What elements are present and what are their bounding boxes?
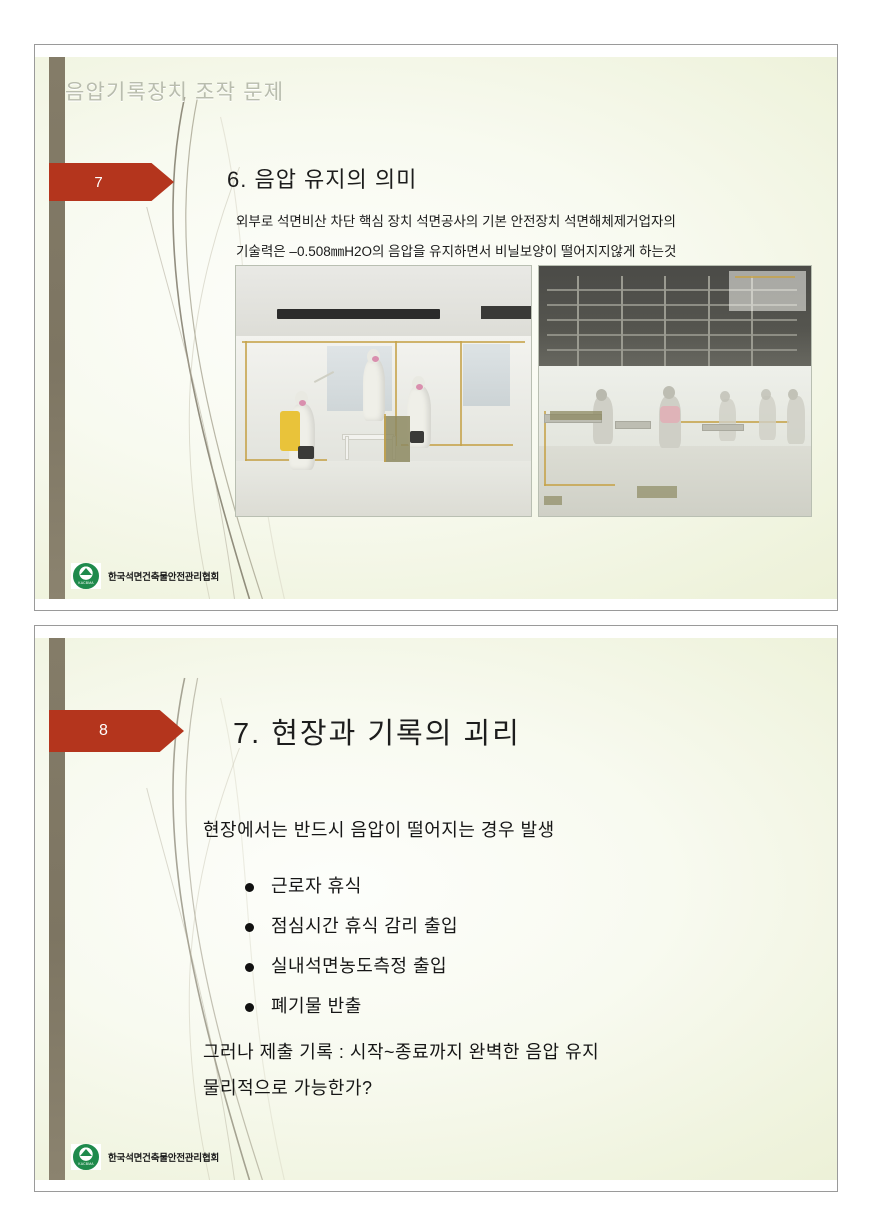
logo-initials: KACBMA — [78, 581, 94, 585]
slide-title-1: 6. 음압 유지의 의미 — [227, 162, 417, 194]
association-logo-icon: KACBMA — [71, 563, 101, 589]
slide-title-2: 7. 현장과 기록의 괴리 — [233, 710, 521, 752]
footer-organization-name: 한국석면건축물안전관리협회 — [108, 569, 219, 583]
slide-2-intro: 현장에서는 반드시 음압이 떨어지는 경우 발생 — [203, 816, 555, 842]
association-logo-icon: KACBMA — [71, 1144, 101, 1170]
slide-footer-1: KACBMA 한국석면건축물안전관리협회 — [71, 563, 219, 589]
body-line: 외부로 석면비산 차단 핵심 장치 석면공사의 기본 안전장치 석면해체제거업자… — [236, 207, 676, 237]
handout-page: 음압기록장치 조작 문제 7 6. 음압 유지의 의미 외부로 석면비산 차단 … — [0, 0, 870, 1231]
body-line: 기술력은 –0.508㎜H2O의 음압을 유지하면서 비닐보양이 떨어지지않게 … — [236, 237, 676, 267]
slide-1: 음압기록장치 조작 문제 7 6. 음압 유지의 의미 외부로 석면비산 차단 … — [35, 57, 837, 599]
slide-number-text: 7 — [94, 174, 102, 191]
slide-2-bullet-list: 근로자 휴식 점심시간 휴식 감리 출입 실내석면농도측정 출입 폐기물 반출 — [205, 866, 458, 1026]
slide-2-closing: 그러나 제출 기록 : 시작~종료까지 완벽한 음압 유지 물리적으로 가능한가… — [203, 1034, 599, 1106]
slide-header-title: 음압기록장치 조작 문제 — [65, 76, 284, 106]
footer-organization-name: 한국석면건축물안전관리협회 — [108, 1150, 219, 1164]
logo-initials: KACBMA — [78, 1162, 94, 1166]
list-item: 실내석면농도측정 출입 — [245, 946, 458, 986]
slide-number-badge-7: 7 — [49, 163, 174, 201]
slide-footer-2: KACBMA 한국석면건축물안전관리협회 — [71, 1144, 219, 1170]
slide-number-badge-8: 8 — [49, 710, 184, 752]
photo-row — [235, 265, 812, 517]
list-item: 근로자 휴식 — [245, 866, 458, 906]
slide-number-text: 8 — [99, 722, 108, 740]
asbestos-removal-ceiling-grid-photo — [538, 265, 812, 517]
slide-header-band: 음압기록장치 조작 문제 — [65, 71, 837, 111]
left-accent-bar-1 — [49, 57, 65, 599]
closing-line: 그러나 제출 기록 : 시작~종료까지 완벽한 음압 유지 — [203, 1034, 599, 1070]
slide-2: 8 7. 현장과 기록의 괴리 현장에서는 반드시 음압이 떨어지는 경우 발생… — [35, 638, 837, 1180]
slide-frame-1: 음압기록장치 조작 문제 7 6. 음압 유지의 의미 외부로 석면비산 차단 … — [34, 44, 838, 611]
list-item: 폐기물 반출 — [245, 986, 458, 1026]
list-item: 점심시간 휴식 감리 출입 — [245, 906, 458, 946]
asbestos-removal-spraying-photo — [235, 265, 532, 517]
closing-line: 물리적으로 가능한가? — [203, 1070, 599, 1106]
slide-frame-2: 8 7. 현장과 기록의 괴리 현장에서는 반드시 음압이 떨어지는 경우 발생… — [34, 625, 838, 1192]
